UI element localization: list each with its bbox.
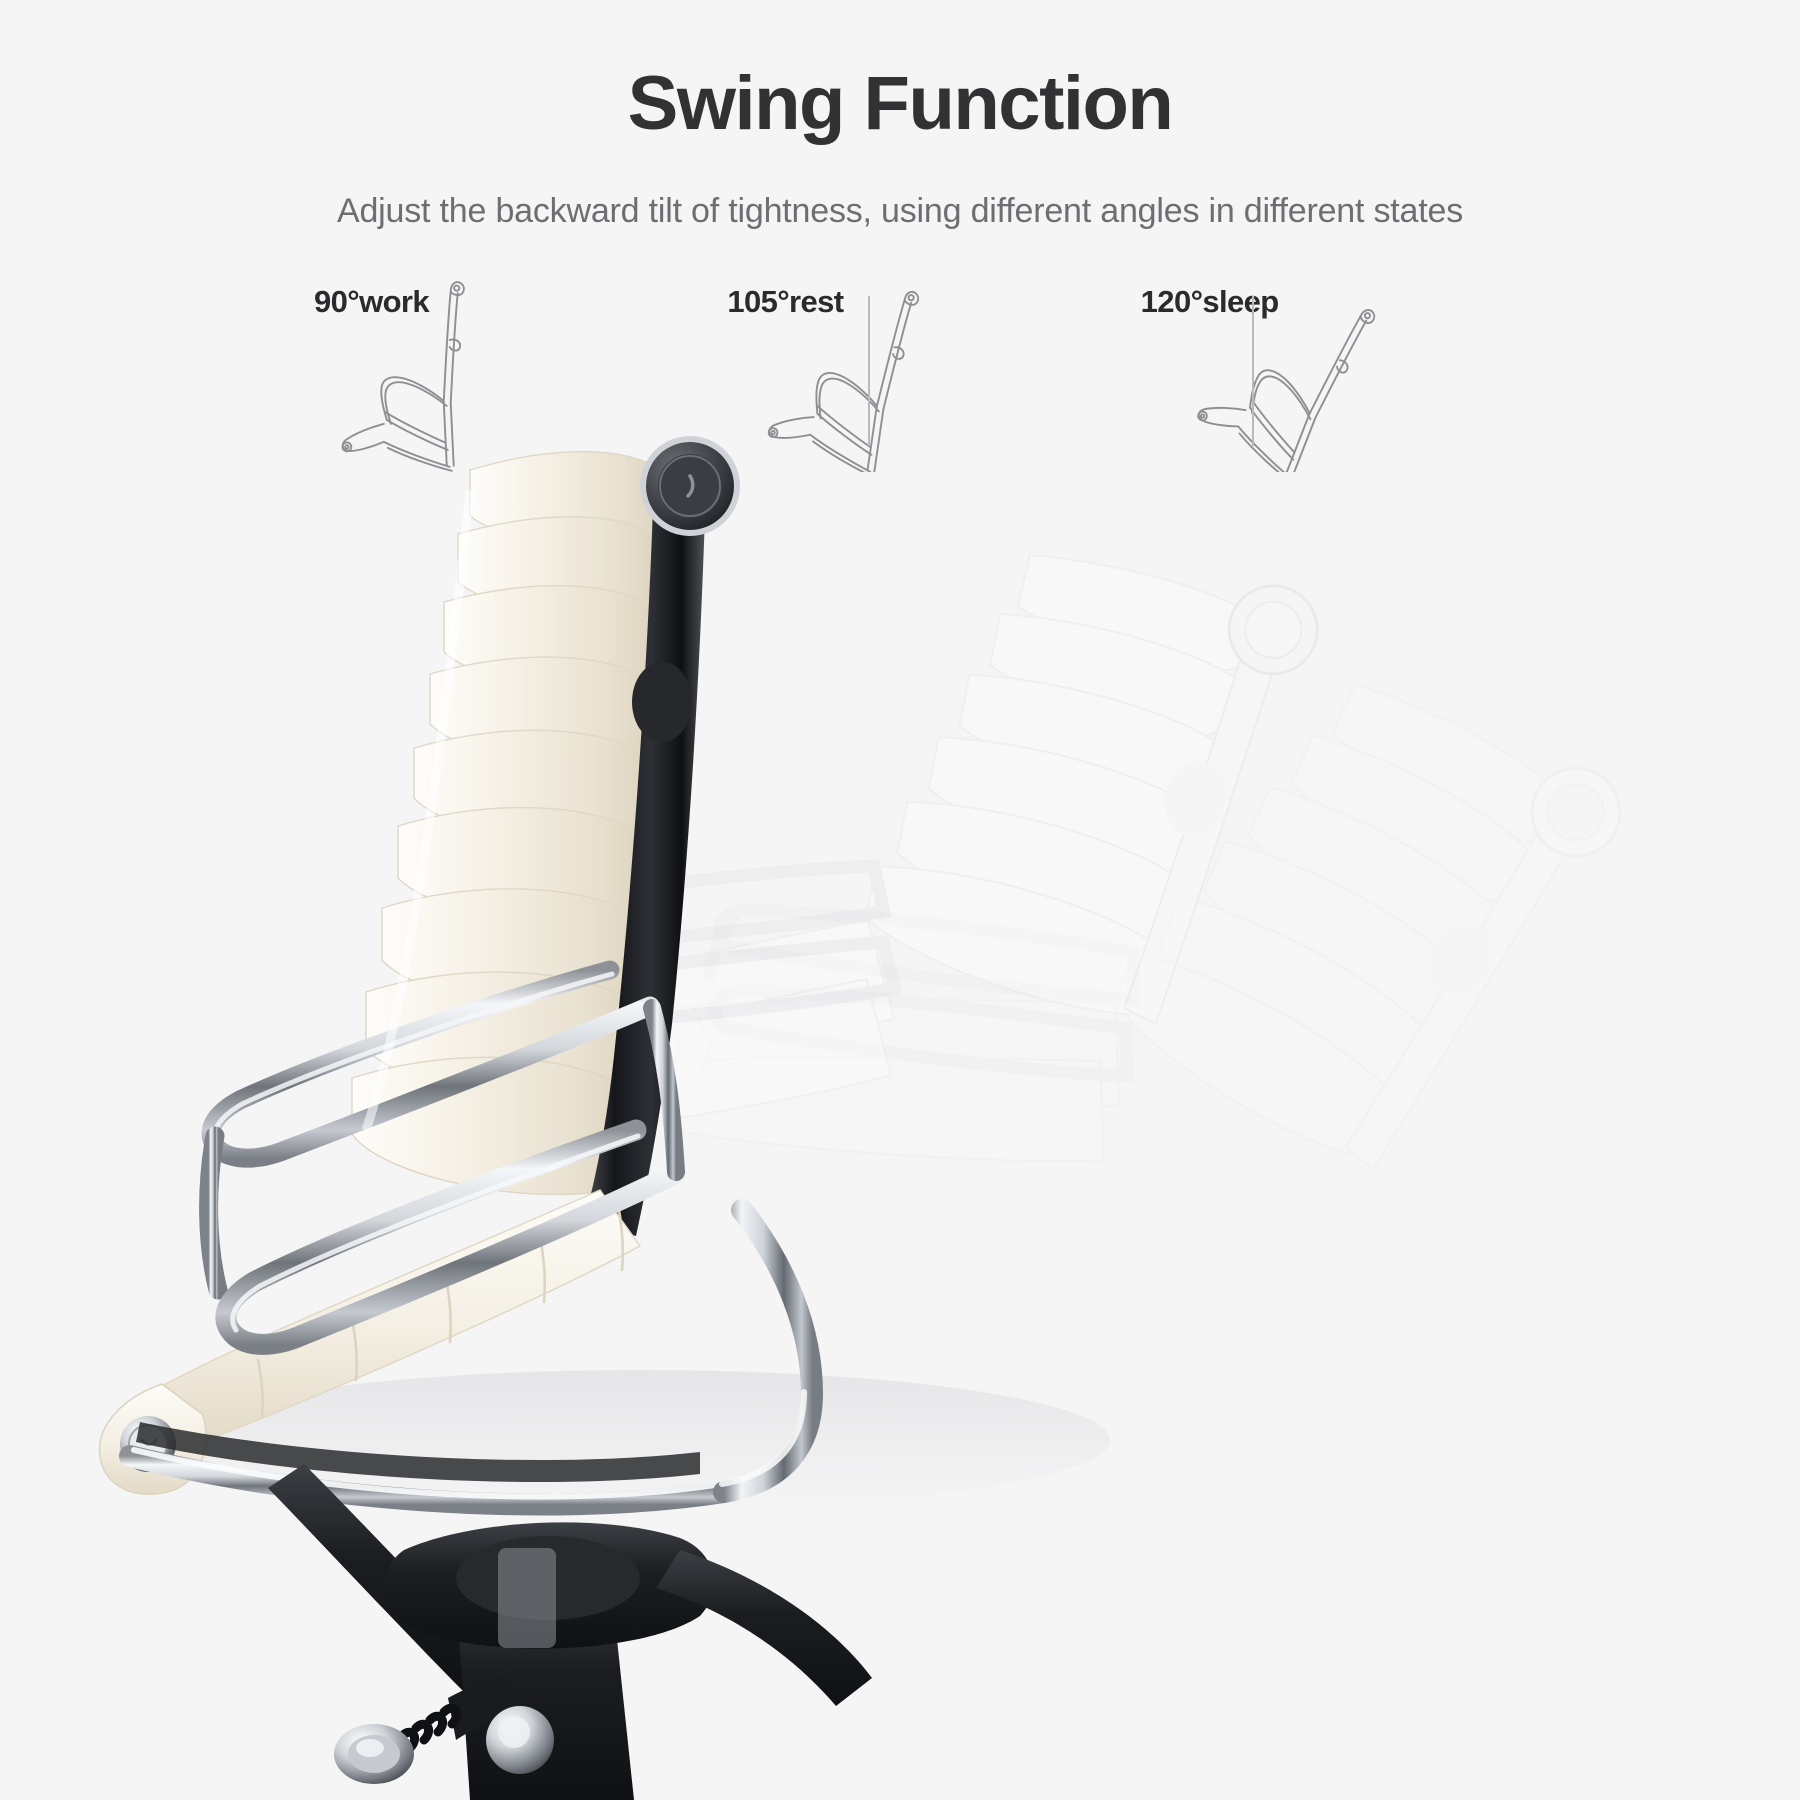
angle-label-rest: 105°rest [727, 284, 843, 320]
backrest-pivot-cap [640, 436, 740, 536]
chair-illustration [0, 430, 1800, 1800]
angle-divider [868, 296, 870, 446]
angle-label-sleep: 120°sleep [1141, 284, 1279, 320]
product-infographic: Swing Function Adjust the backward tilt … [0, 0, 1800, 1800]
angle-divider [1252, 296, 1254, 446]
page-title: Swing Function [0, 60, 1800, 147]
angle-label-work: 90°work [314, 284, 429, 320]
backrest-knuckle [632, 662, 692, 742]
hero-product-image [0, 430, 1800, 1800]
page-subtitle: Adjust the backward tilt of tightness, u… [0, 192, 1800, 231]
